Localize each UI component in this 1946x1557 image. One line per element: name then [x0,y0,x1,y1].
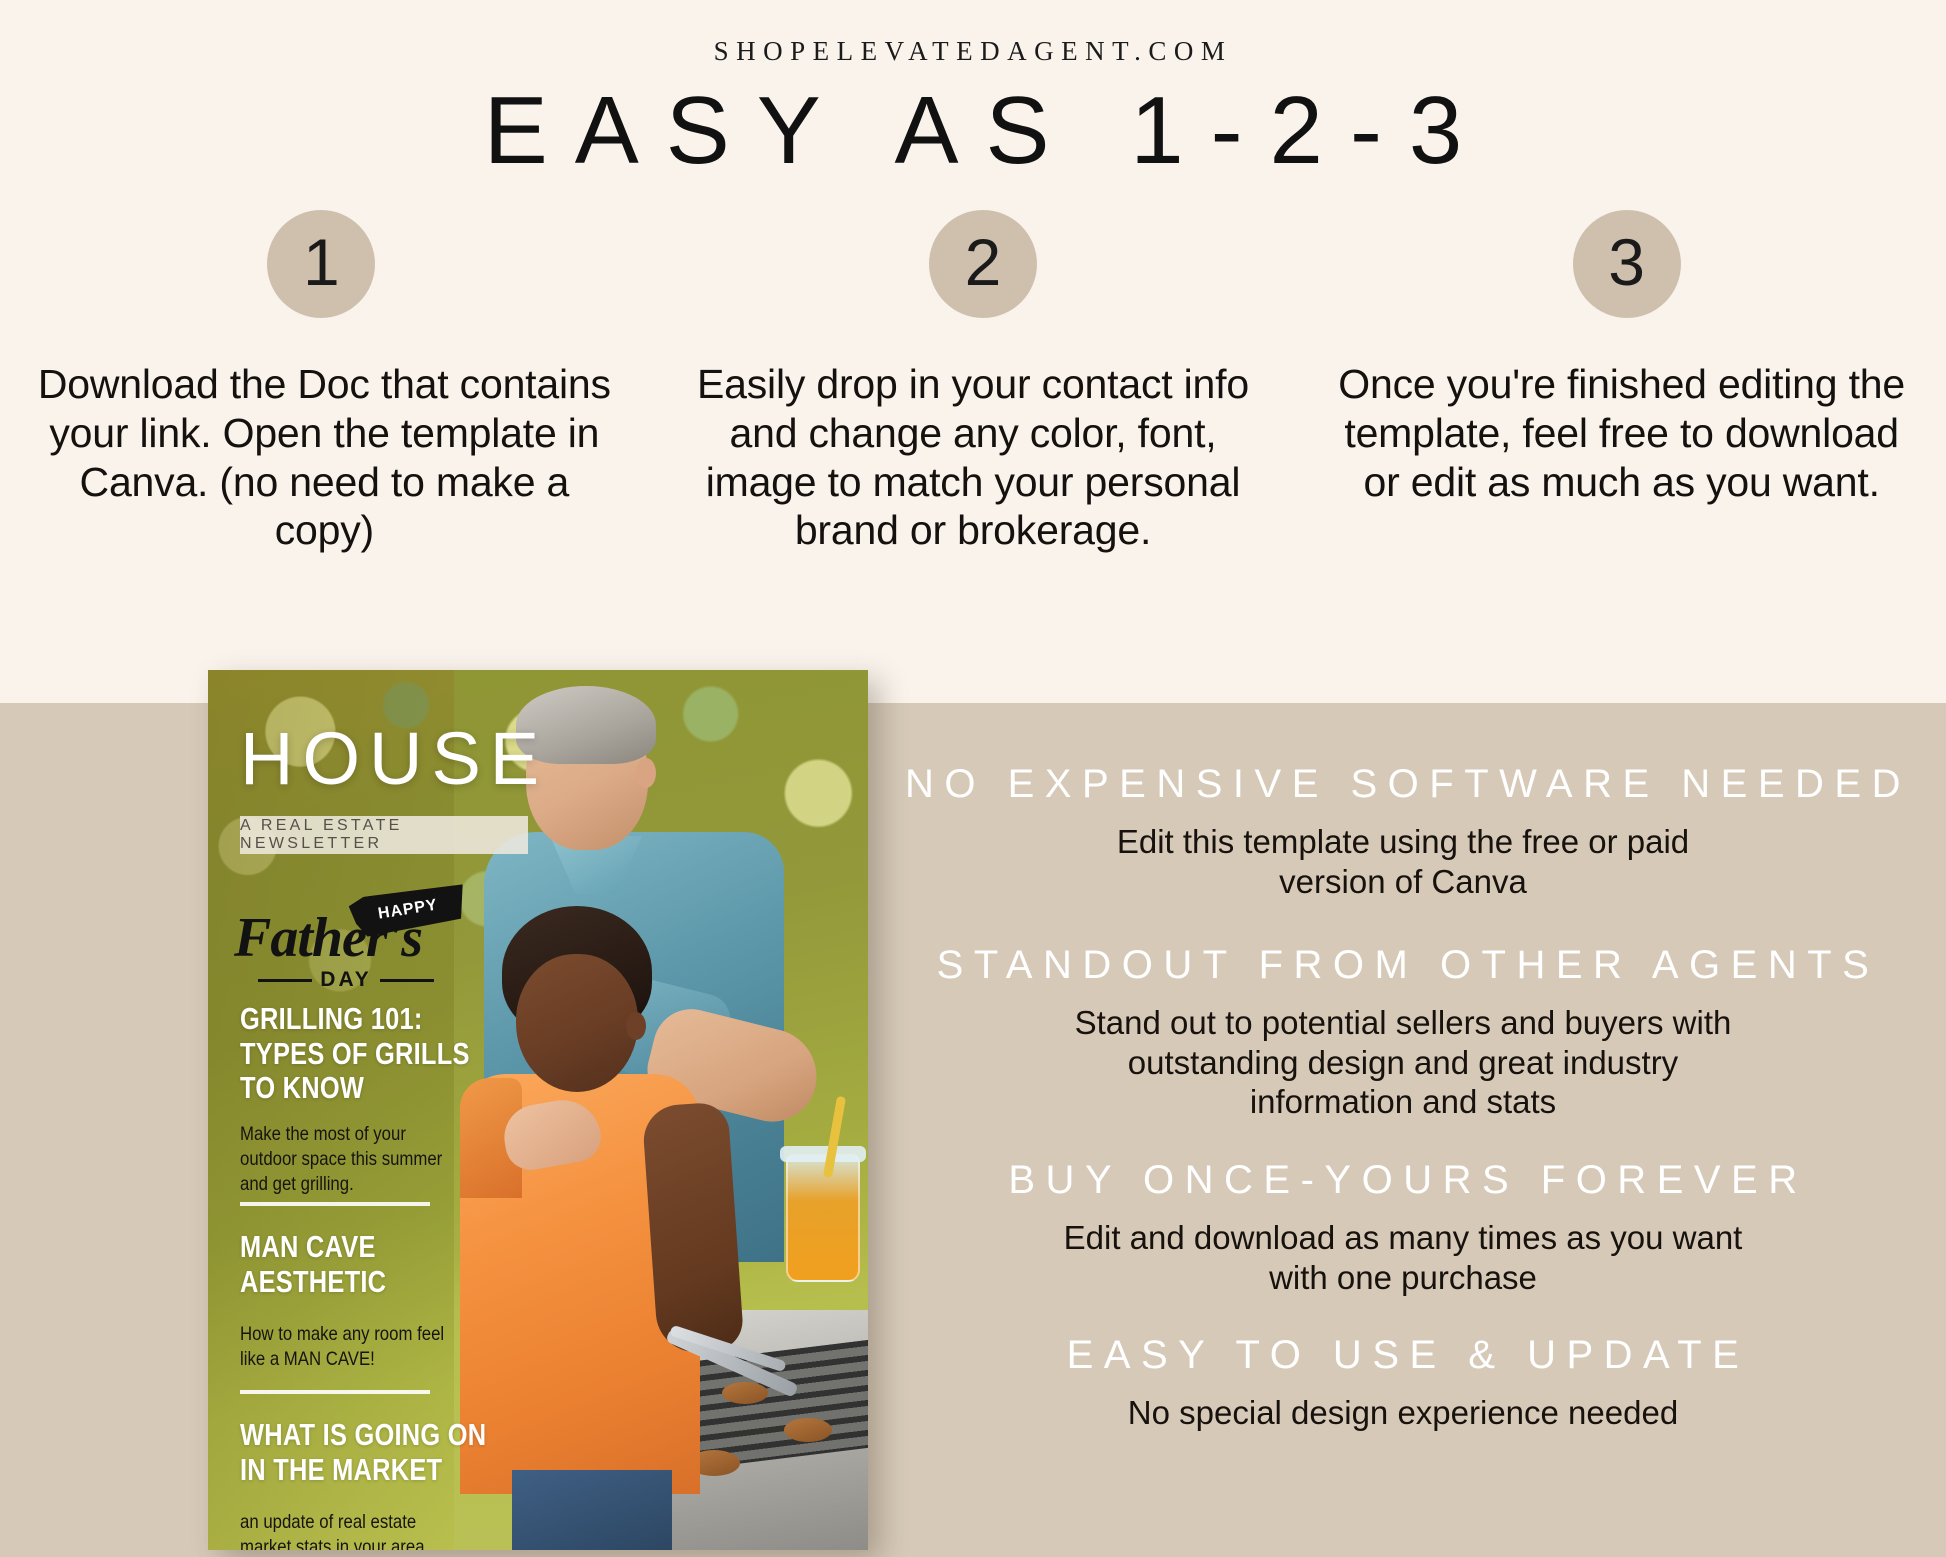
feature-buy-once-yours-forever: BUY ONCE-YOURS FOREVER Edit and download… [880,1156,1926,1297]
rule-left [258,979,312,982]
step-1-text: Download the Doc that contains your link… [24,360,624,555]
magazine-cover-preview: HOUSE A REAL ESTATE NEWSLETTER Father's … [208,670,868,1550]
article-2-headline: MAN CAVE AESTHETIC [240,1230,386,1299]
article-1-body: Make the most of your outdoor space this… [240,1122,442,1197]
cover-photo-father-and-son-grilling [454,670,868,1550]
divider-rule [240,1390,430,1394]
happy-label: HAPPY [377,896,439,923]
feature-1-desc: Stand out to potential sellers and buyer… [880,1003,1926,1122]
feature-no-expensive-software: NO EXPENSIVE SOFTWARE NEEDED Edit this t… [880,760,1926,901]
boy-head [516,954,638,1092]
feature-3-title: EASY TO USE & UPDATE [880,1331,1926,1379]
feature-1-title: STANDOUT FROM OTHER AGENTS [880,941,1926,989]
day-row: DAY [258,968,434,992]
step-2-text: Easily drop in your contact info and cha… [673,360,1273,555]
features-list: NO EXPENSIVE SOFTWARE NEEDED Edit this t… [880,760,1926,1433]
divider-rule [240,1202,430,1206]
fathers-day-badge: Father's HAPPY DAY [230,888,460,992]
feature-easy-to-use-and-update: EASY TO USE & UPDATE No special design e… [880,1331,1926,1433]
feature-3-desc: No special design experience needed [880,1393,1926,1433]
feature-0-title: NO EXPENSIVE SOFTWARE NEEDED [880,760,1926,808]
article-3-headline: WHAT IS GOING ON IN THE MARKET [240,1418,486,1487]
step-3: 3 Once you're finished editing the templ… [1297,210,1946,555]
feature-2-title: BUY ONCE-YOURS FOREVER [880,1156,1926,1204]
feature-standout-from-other-agents: STANDOUT FROM OTHER AGENTS Stand out to … [880,941,1926,1122]
boy-jeans [512,1470,672,1550]
magazine-subtitle: A REAL ESTATE NEWSLETTER [240,817,528,853]
feature-0-desc: Edit this template using the free or pai… [880,822,1926,901]
boy-ear [626,1012,646,1040]
step-2: 2 Easily drop in your contact info and c… [649,210,1298,555]
cup-lid [780,1146,866,1162]
boy-arm [641,1101,744,1354]
burger-patty [784,1418,832,1442]
article-3-body: an update of real estate market stats in… [240,1510,425,1550]
rule-right [380,979,434,982]
step-1-number-badge: 1 [267,210,375,318]
article-2-body: How to make any room feel like a MAN CAV… [240,1322,444,1372]
step-1: 1 Download the Doc that contains your li… [0,210,649,555]
step-3-number-badge: 3 [1573,210,1681,318]
infographic-page: SHOPELEVATEDAGENT.COM EASY AS 1-2-3 1 Do… [0,0,1946,1557]
page-title: EASY AS 1-2-3 [0,76,1946,186]
day-label: DAY [320,968,371,992]
burger-patty [722,1382,768,1404]
step-2-number-badge: 2 [929,210,1037,318]
man-ear [636,758,656,788]
step-3-text: Once you're finished editing the templat… [1322,360,1922,506]
magazine-subtitle-band: A REAL ESTATE NEWSLETTER [240,816,528,854]
steps-row: 1 Download the Doc that contains your li… [0,210,1946,555]
top-section: SHOPELEVATEDAGENT.COM EASY AS 1-2-3 1 Do… [0,0,1946,703]
site-url: SHOPELEVATEDAGENT.COM [0,36,1946,67]
magazine-title: HOUSE [240,722,548,796]
feature-2-desc: Edit and download as many times as you w… [880,1218,1926,1297]
article-1-headline: GRILLING 101: TYPES OF GRILLS TO KNOW [240,1002,470,1106]
